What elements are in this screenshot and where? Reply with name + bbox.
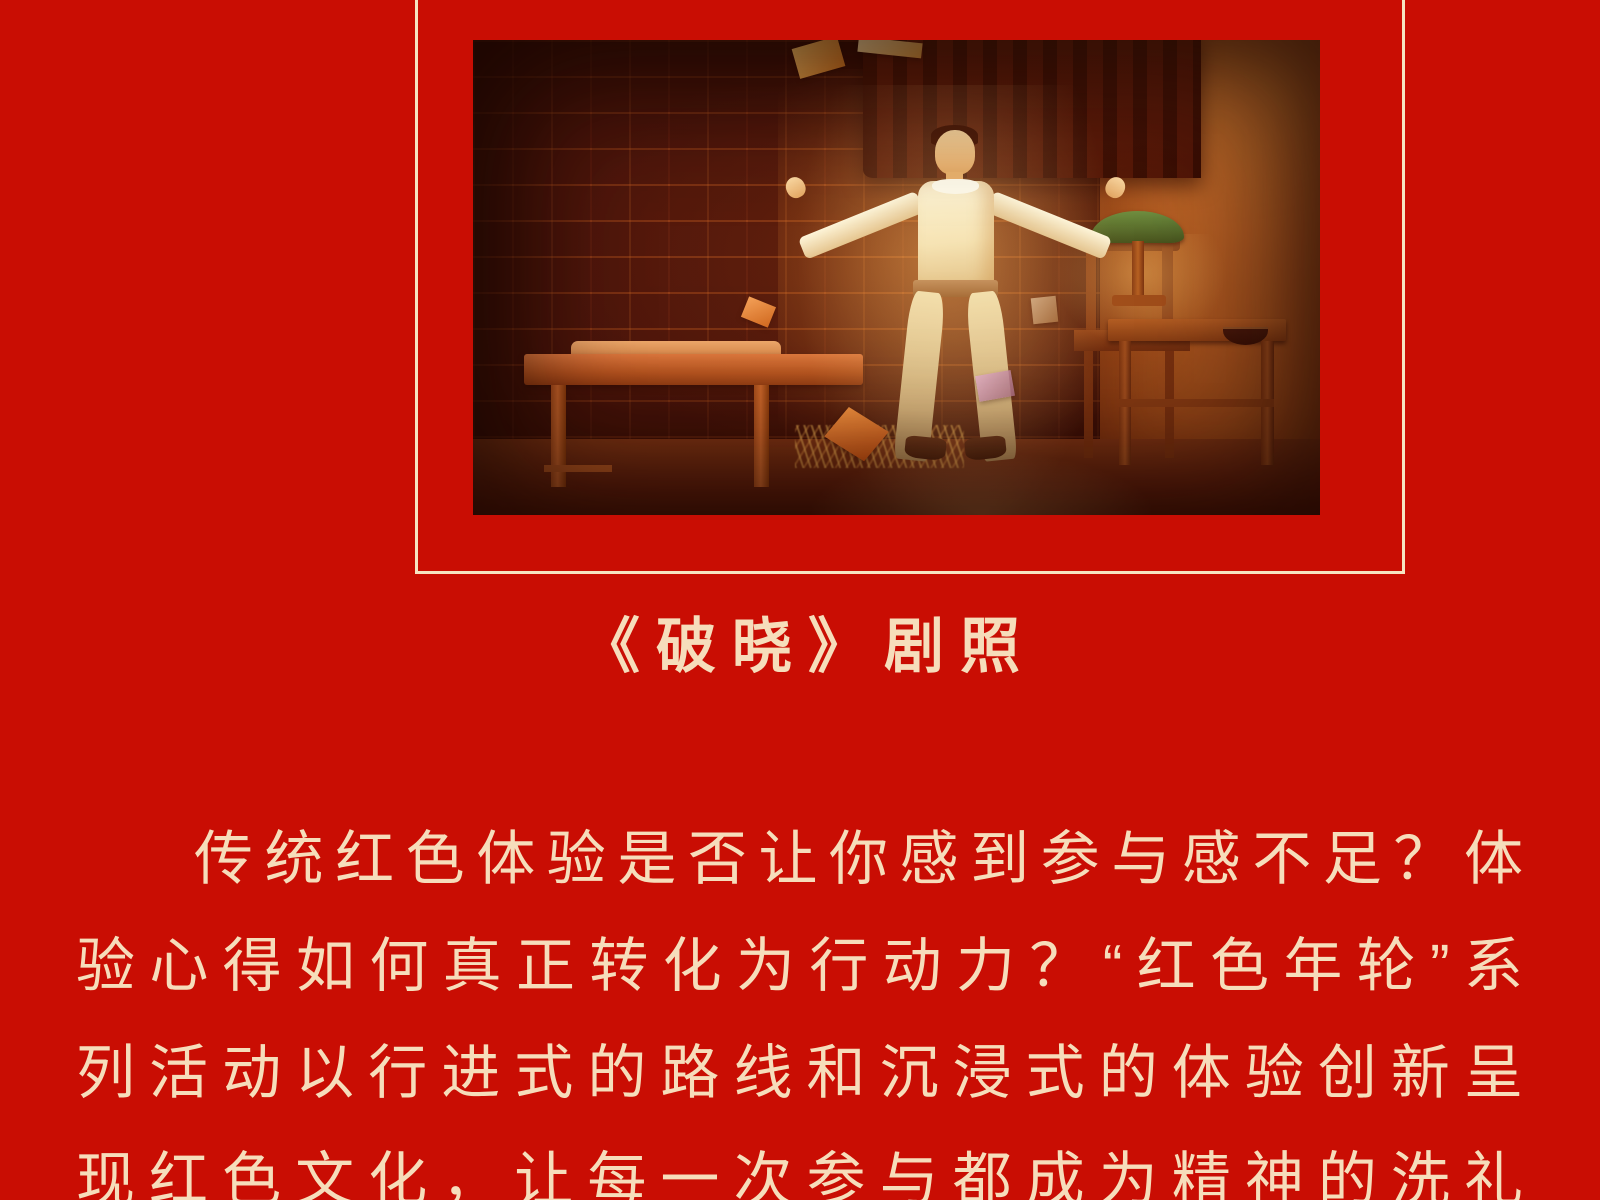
wooden-table	[1108, 287, 1286, 487]
stage-photo	[473, 40, 1320, 515]
bed-rail	[544, 465, 612, 472]
performer-figure	[850, 130, 1062, 505]
table-stretcher	[1119, 399, 1274, 407]
poster-root: 《破晓》剧照 传统红色体验是否让你感到参与感不足？体 验心得如何真正转化为行动力…	[0, 0, 1600, 1200]
theatre-scene	[473, 40, 1320, 515]
flying-paper	[975, 370, 1014, 401]
body-line: 传统红色体验是否让你感到参与感不足？体	[76, 806, 1524, 913]
photo-frame	[415, 0, 1405, 574]
bed-leg	[754, 385, 769, 488]
body-copy: 传统红色体验是否让你感到参与感不足？体 验心得如何真正转化为行动力？“红色年轮”…	[76, 806, 1524, 1200]
performer-torso	[918, 181, 994, 290]
body-line: 验心得如何真正转化为行动力？“红色年轮”系	[76, 913, 1524, 1020]
bed-top	[524, 354, 863, 385]
wooden-bed-bench	[524, 354, 863, 497]
body-line: 列活动以行进式的路线和沉浸式的体验创新呈	[76, 1020, 1524, 1127]
bed-leg	[551, 385, 566, 488]
performer-head	[935, 130, 975, 175]
chair-leg	[1084, 351, 1093, 458]
flying-paper	[1031, 295, 1059, 324]
photo-caption: 《破晓》剧照	[0, 614, 1600, 680]
body-line: 现红色文化，让每一次参与都成为精神的洗礼	[76, 1127, 1524, 1200]
performer-collar	[932, 179, 979, 194]
